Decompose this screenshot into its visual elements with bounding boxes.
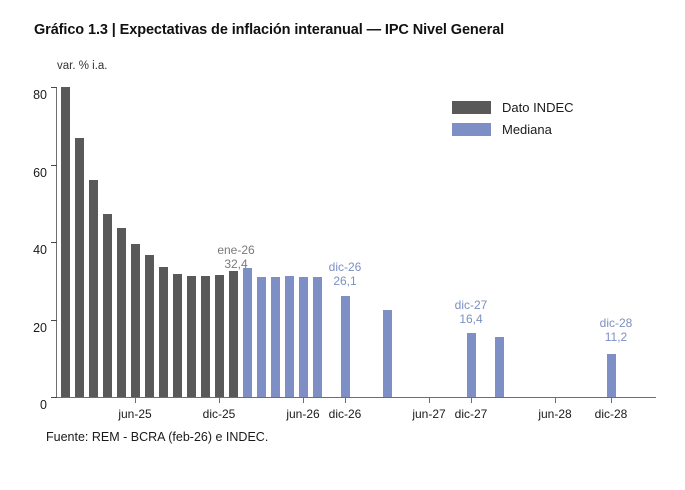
chart-legend: Dato INDECMediana [452,100,574,137]
y-tick-mark [51,242,57,243]
legend-item-mediana[interactable]: Mediana [452,122,574,137]
x-tick-mark [219,398,220,403]
legend-item-label: Mediana [502,122,552,137]
annotation-dic-26: dic-2626,1 [329,260,362,288]
annotation-label: dic-28 [600,316,633,330]
bar-nov-25 [201,276,210,397]
bar-dic-26 [341,296,350,397]
annotation-dic-27: dic-2716,4 [455,298,488,326]
bar-mar-26 [257,277,266,398]
annotation-label: ene-26 [217,243,254,257]
bar-jun-27 [383,310,392,397]
y-tick-mark [51,320,57,321]
annotation-value: 11,2 [600,330,633,344]
chart-container: Gráfico 1.3 | Expectativas de inflación … [0,0,685,490]
bar-oct-25 [187,276,196,397]
legend-item-label: Dato INDEC [502,100,574,115]
y-axis-unit-label: var. % i.a. [57,60,108,72]
x-axis-line [56,397,656,398]
annotation-label: dic-26 [329,260,362,274]
bar-ago-25 [159,267,168,397]
y-tick-mark [51,165,57,166]
x-tick-label: dic-26 [329,407,362,421]
x-tick-mark [303,398,304,403]
x-tick-label: dic-25 [203,407,236,421]
bar-sep-25 [173,274,182,397]
y-axis-line [56,88,57,398]
bar-jul-26 [313,277,322,397]
bar-feb-26 [243,268,252,397]
x-tick-label: jun-25 [118,407,151,421]
legend-swatch-icon [452,101,491,114]
x-tick-label: jun-26 [286,407,319,421]
bar-abr-25 [103,214,112,397]
source-note: Fuente: REM - BCRA (feb-26) e INDEC. [46,430,268,444]
y-tick-mark [51,87,57,88]
bar-mar-25 [89,180,98,397]
annotation-value: 16,4 [455,312,488,326]
bar-dic-27 [467,333,476,397]
x-tick-label: jun-28 [538,407,571,421]
bar-jul-25 [145,255,154,397]
bar-ene-26 [229,271,238,397]
bar-abr-26 [271,277,280,398]
bar-may-25 [117,228,126,397]
x-tick-label: dic-28 [595,407,628,421]
x-tick-mark [471,398,472,403]
bar-may-26 [285,276,294,397]
legend-swatch-icon [452,123,491,136]
x-tick-mark [135,398,136,403]
annotation-dic-28: dic-2811,2 [600,316,633,344]
x-tick-label: jun-27 [412,407,445,421]
bar-jun-28 [495,337,504,397]
x-tick-label: dic-27 [455,407,488,421]
bar-jun-26 [299,277,308,398]
x-tick-mark [345,398,346,403]
page-title: Gráfico 1.3 | Expectativas de inflación … [34,22,504,38]
x-tick-mark [611,398,612,403]
annotation-label: dic-27 [455,298,488,312]
annotation-ene-26: ene-2632,4 [217,243,254,271]
annotation-value: 26,1 [329,274,362,288]
legend-item-dato-indec[interactable]: Dato INDEC [452,100,574,115]
bar-dic-25 [215,275,224,397]
x-tick-mark [555,398,556,403]
bar-feb-25 [75,138,84,397]
bar-ene-25 [61,87,70,397]
x-tick-mark [429,398,430,403]
bar-dic-28 [607,354,616,397]
bar-jun-25 [131,244,140,397]
y-tick-mark [51,397,57,398]
